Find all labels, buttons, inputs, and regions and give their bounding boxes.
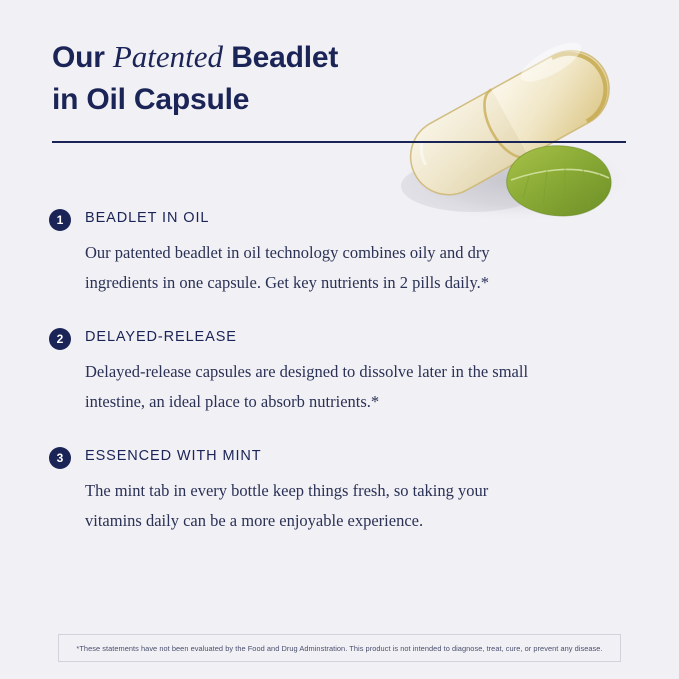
feature-item-essenced-with-mint: 3 ESSENCED WITH MINT The mint tab in eve… — [49, 446, 549, 535]
title-emphasis-patented: Patented — [113, 39, 223, 74]
heading-divider-rule — [52, 141, 626, 143]
feature-list: 1 BEADLET IN OIL Our patented beadlet in… — [49, 208, 549, 535]
feature-body-2: Delayed-release capsules are designed to… — [85, 357, 533, 416]
product-info-panel: Our Patented Beadlet in Oil Capsule 1 BE… — [0, 0, 679, 679]
disclaimer-box: *These statements have not been evaluate… — [58, 634, 621, 662]
title-part-2: Beadlet — [223, 41, 338, 74]
title-part-1: Our — [52, 41, 113, 74]
feature-title-3: ESSENCED WITH MINT — [85, 446, 549, 466]
page-title: Our Patented Beadlet in Oil Capsule — [52, 36, 412, 120]
feature-item-beadlet-in-oil: 1 BEADLET IN OIL Our patented beadlet in… — [49, 208, 549, 297]
mint-leaf-shape — [507, 146, 611, 216]
feature-body-3: The mint tab in every bottle keep things… — [85, 476, 533, 535]
feature-number-badge-3: 3 — [49, 447, 71, 469]
feature-number-badge-2: 2 — [49, 328, 71, 350]
feature-body-1: Our patented beadlet in oil technology c… — [85, 238, 533, 297]
feature-number-badge-1: 1 — [49, 209, 71, 231]
disclaimer-text: *These statements have not been evaluate… — [76, 644, 602, 653]
title-line-2: in Oil Capsule — [52, 83, 249, 116]
feature-title-2: DELAYED-RELEASE — [85, 327, 549, 347]
feature-item-delayed-release: 2 DELAYED-RELEASE Delayed-release capsul… — [49, 327, 549, 416]
feature-title-1: BEADLET IN OIL — [85, 208, 549, 228]
hero-heading-block: Our Patented Beadlet in Oil Capsule — [52, 36, 412, 120]
